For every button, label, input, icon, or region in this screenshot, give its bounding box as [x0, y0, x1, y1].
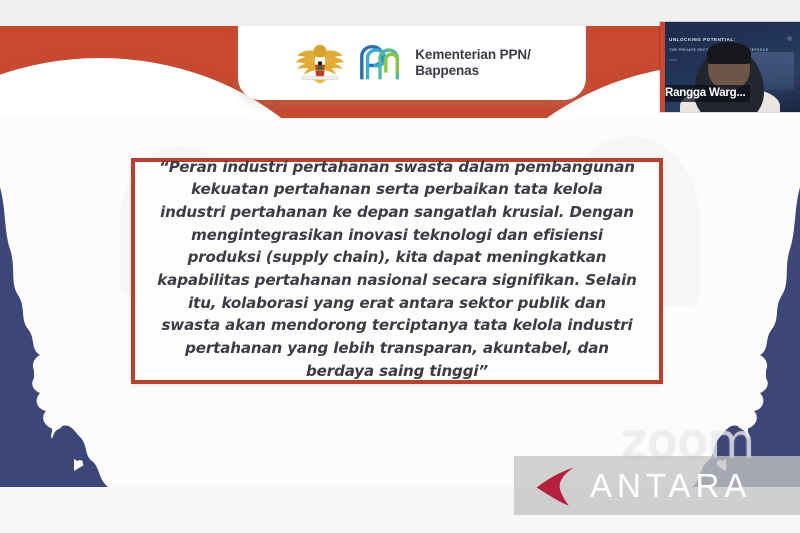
video-slide-date: 2025 — [669, 58, 677, 62]
quote-box: “Peran industri pertahanan swasta dalam … — [131, 158, 663, 384]
bappenas-logo — [357, 43, 405, 83]
quote-text: “Peran industri pertahanan swasta dalam … — [135, 150, 659, 392]
screenshot-root: Kementerian PPN/ Bappenas “Peran indust — [0, 0, 800, 533]
ministry-name-label: Kementerian PPN/ Bappenas — [415, 47, 530, 80]
video-left-edge-strip — [660, 22, 665, 112]
antara-wordmark: ANTARA — [590, 467, 751, 505]
video-screen-dot-icon — [787, 36, 792, 41]
video-participant-hair — [707, 42, 751, 64]
garuda-pancasila-emblem — [293, 41, 347, 85]
batik-ornament-right — [682, 187, 800, 487]
antara-arrow-logo — [532, 463, 578, 509]
batik-ornament-left — [0, 187, 118, 487]
video-participant-name: Rangga Warg... — [660, 85, 750, 102]
zoom-video-tile[interactable]: UNLOCKING POTENTIAL: THE PRIVATE SECTOR … — [660, 22, 800, 112]
antara-watermark: ANTARA — [514, 456, 800, 515]
ministry-logo-card: Kementerian PPN/ Bappenas — [238, 26, 586, 100]
